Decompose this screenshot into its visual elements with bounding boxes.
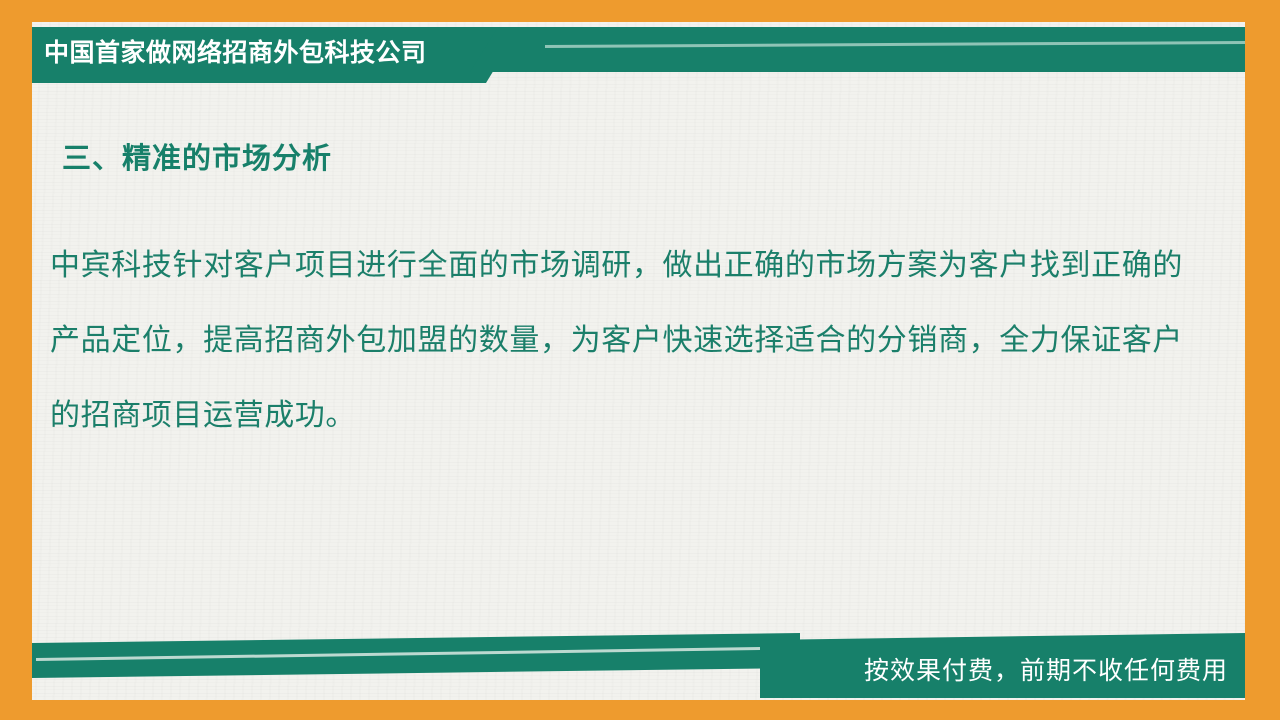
- presentation-slide: 中国首家做网络招商外包科技公司 三、精准的市场分析 中宾科技针对客户项目进行全面…: [0, 0, 1280, 720]
- footer-tagline: 按效果付费，前期不收任何费用: [864, 651, 1228, 687]
- frame-right-edge: [1245, 0, 1280, 720]
- body-paragraph: 中宾科技针对客户项目进行全面的市场调研，做出正确的市场方案为客户找到正确的产品定…: [50, 228, 1183, 453]
- frame-left-edge: [0, 0, 32, 720]
- section-heading: 三、精准的市场分析: [62, 135, 332, 177]
- header-company-title: 中国首家做网络招商外包科技公司: [44, 36, 524, 70]
